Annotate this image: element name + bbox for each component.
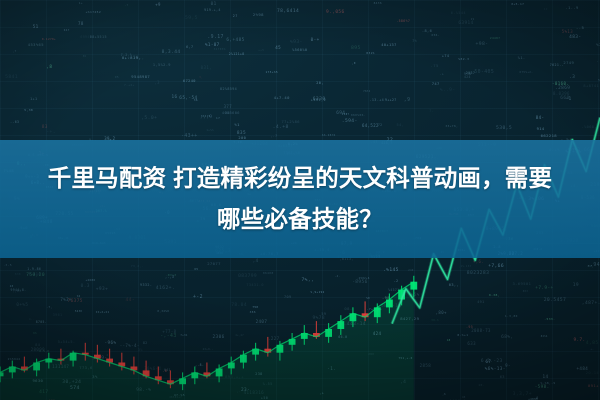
banner-image: 6.5,08,3.44.368+7413,3,7+-.867%3869++27-… (0, 0, 600, 400)
page-title: 千里马配资 打造精彩纷呈的天文科普动画，需要 哪些必备技能？ (0, 140, 600, 258)
headline-line-1: 千里马配资 打造精彩纷呈的天文科普动画，需要 (48, 158, 552, 199)
headline-line-2: 哪些必备技能？ (217, 199, 383, 240)
